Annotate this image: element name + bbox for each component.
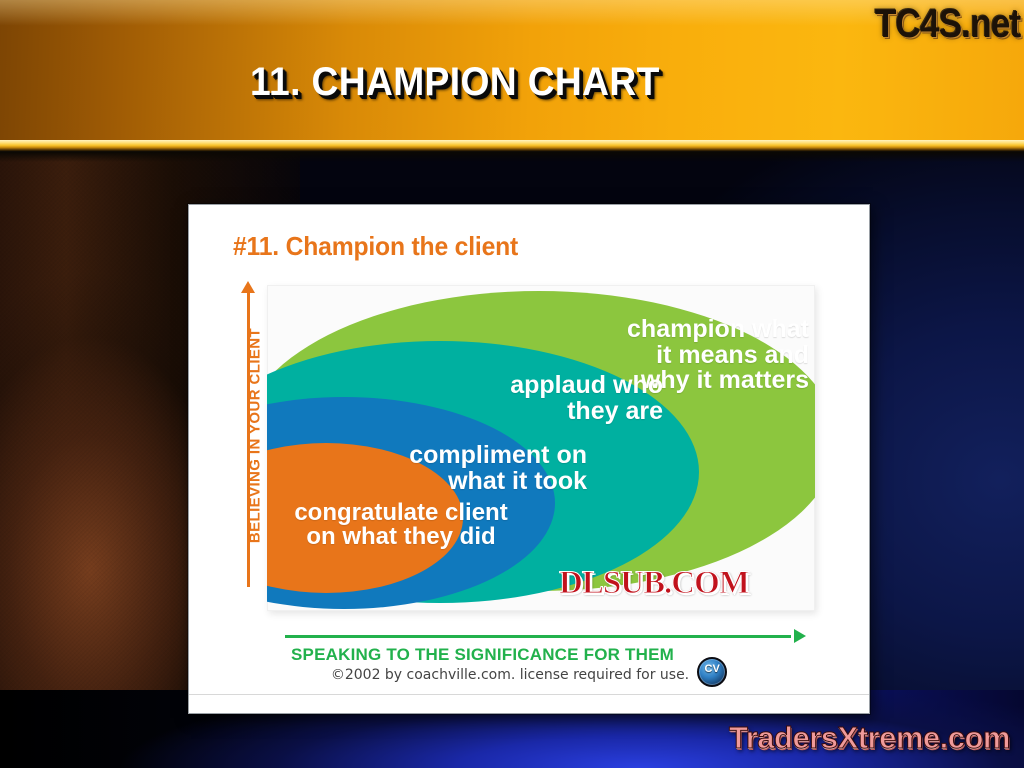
slide-heading: #11. Champion the client xyxy=(233,231,518,262)
y-axis-label: BELIEVING IN YOUR CLIENT xyxy=(247,286,264,586)
chart-plot-area: champion what it means and why it matter… xyxy=(267,285,815,611)
ellipse-label-compliment: compliment on what it took xyxy=(365,443,587,494)
title-bar: 11. CHAMPION CHART TC4S.net xyxy=(0,0,1024,140)
page-title: 11. CHAMPION CHART xyxy=(250,60,660,105)
ellipse-label-applaud: applaud who they are xyxy=(473,373,663,424)
x-axis-line xyxy=(285,635,791,638)
slide-panel: #11. Champion the client BELIEVING IN YO… xyxy=(188,204,870,714)
credit-divider xyxy=(189,694,869,695)
title-bar-sheen xyxy=(0,0,1024,26)
x-axis-arrow-icon xyxy=(794,629,806,643)
slide-viewer: 11. CHAMPION CHART TC4S.net #11. Champio… xyxy=(0,0,1024,768)
copyright-text: ©2002 by coachville.com. license require… xyxy=(331,667,689,683)
watermark-tc4s: TC4S.net xyxy=(874,2,1020,47)
y-axis: BELIEVING IN YOUR CLIENT xyxy=(231,281,265,589)
title-bar-divider-shadow xyxy=(0,152,1024,162)
copyright-notice: ©2002 by coachville.com. license require… xyxy=(189,657,870,687)
title-bar-divider xyxy=(0,140,1024,152)
coachville-badge-icon xyxy=(697,657,727,687)
watermark-dlsub: DLSUB.COM xyxy=(559,565,749,602)
ellipse-label-congratulate: congratulate client on what they did xyxy=(279,501,523,550)
watermark-tradersxtreme: TradersXtreme.com xyxy=(729,720,1010,756)
